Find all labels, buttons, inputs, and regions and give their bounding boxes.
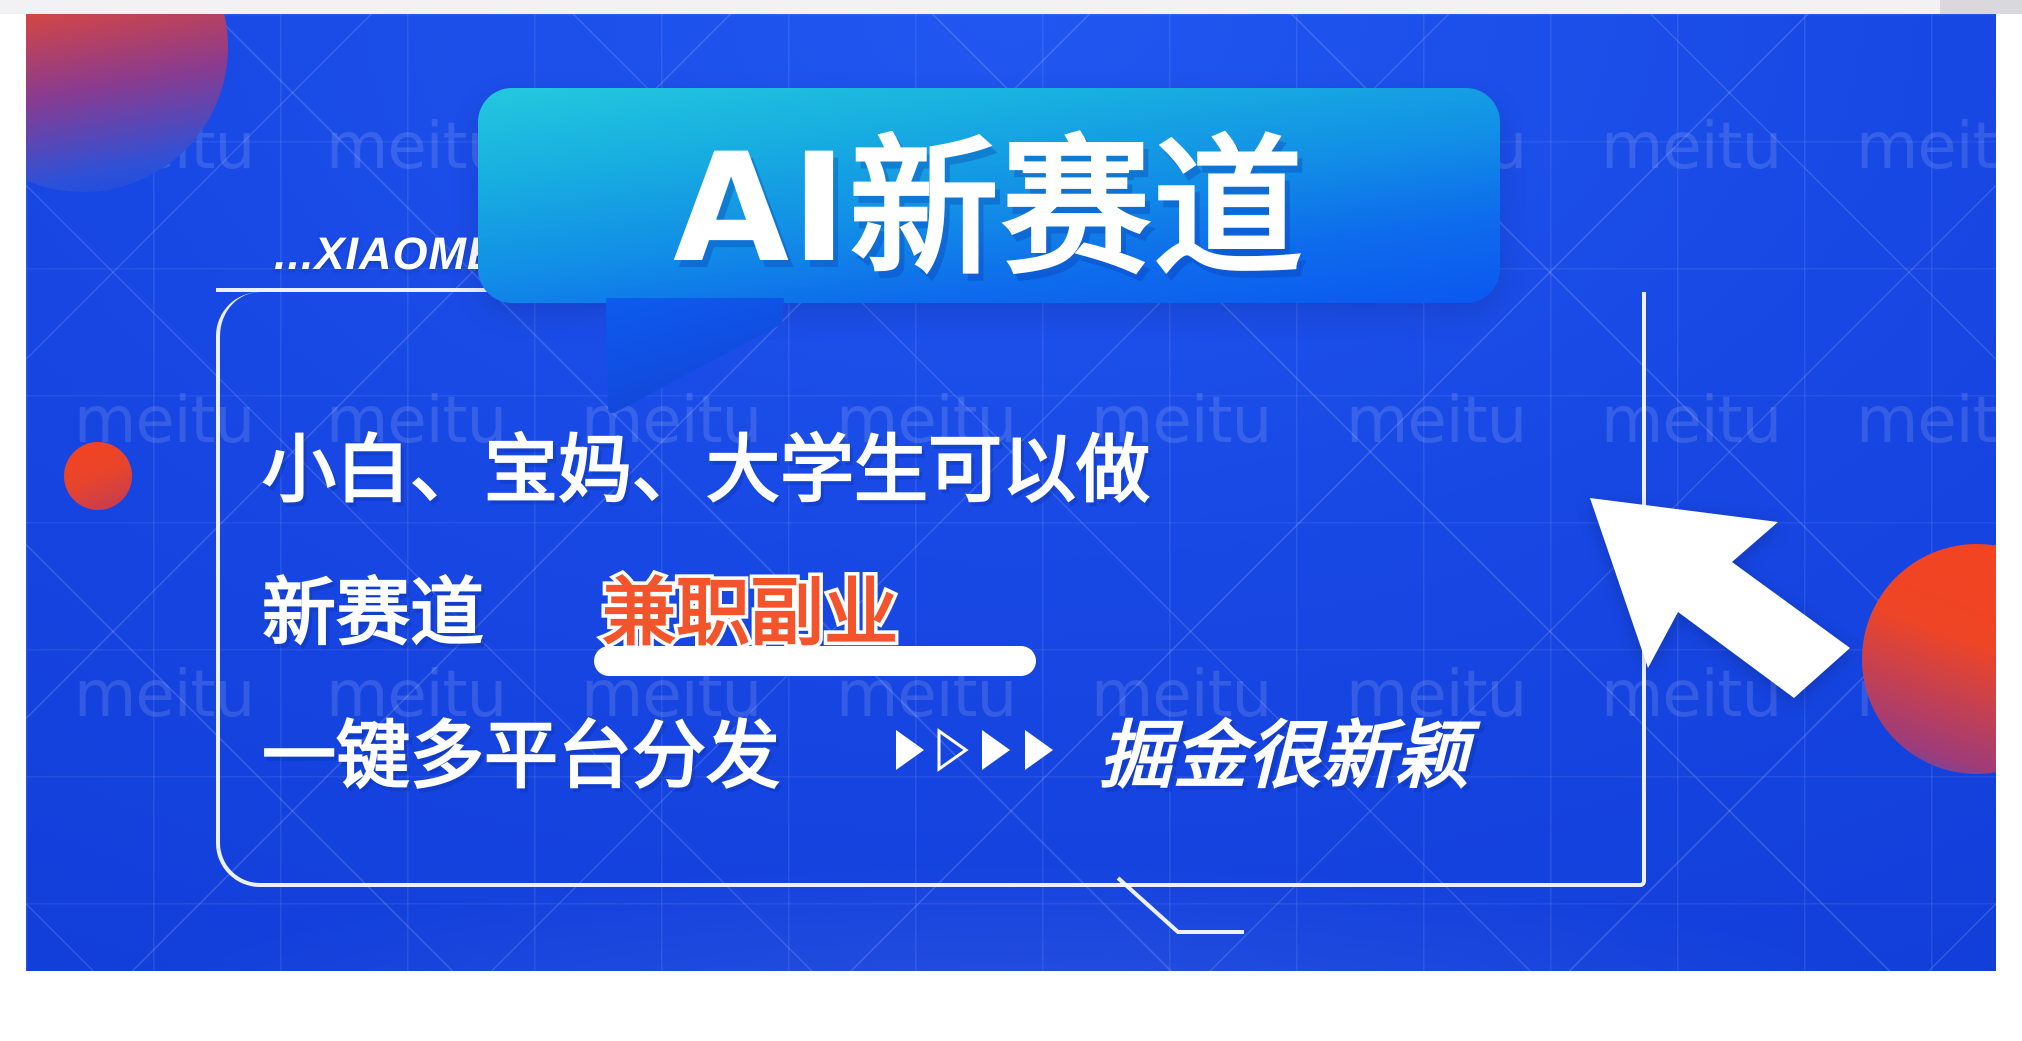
poster-canvas: meitumeitumeitumeitumeitumeitumeitumeitu… bbox=[0, 0, 2022, 1041]
triangle-right-filled-icon-1 bbox=[892, 728, 926, 772]
arrow-cursor-icon bbox=[1582, 490, 1902, 720]
triangle-right-filled-icon-3 bbox=[1021, 728, 1055, 772]
page-strip-bottom bbox=[0, 971, 2022, 1041]
copy-line-distribute: 一键多平台分发 掘金很新颖 bbox=[262, 696, 1469, 803]
copy-line-track: 新赛道 兼职副业 bbox=[262, 553, 1469, 660]
highlight-text: 兼职副业 bbox=[602, 570, 898, 656]
decor-circle-small-left bbox=[64, 442, 132, 510]
triangle-right-outline-icon bbox=[935, 728, 969, 772]
poster-background: meitumeitumeitumeitumeitumeitumeitumeitu… bbox=[26, 14, 1996, 971]
brand-tag: ...XIAOMEI bbox=[274, 228, 512, 280]
poster-title: AI新赛道 bbox=[478, 88, 1500, 303]
arrow-marker-group bbox=[892, 728, 1055, 772]
copy-block: 小白、宝妈、大学生可以做 新赛道 兼职副业 一键多平台分发 bbox=[262, 410, 1469, 803]
copy-line-track-text: 新赛道 bbox=[262, 553, 484, 660]
copy-line-audience-text: 小白、宝妈、大学生可以做 bbox=[262, 410, 1150, 517]
highlight-group: 兼职副业 bbox=[602, 553, 898, 660]
tagline-text: 掘金很新颖 bbox=[1099, 696, 1469, 803]
page-margin-left bbox=[0, 0, 26, 1041]
page-corner-marker bbox=[1940, 0, 2022, 14]
copy-line-distribute-text: 一键多平台分发 bbox=[262, 696, 780, 803]
copy-line-audience: 小白、宝妈、大学生可以做 bbox=[262, 410, 1469, 517]
title-bubble-tail bbox=[606, 298, 786, 416]
page-margin-right bbox=[1996, 0, 2022, 1041]
triangle-right-filled-icon-2 bbox=[978, 728, 1012, 772]
outline-frame-notch bbox=[1116, 876, 1246, 938]
page-strip-top bbox=[0, 0, 2022, 14]
